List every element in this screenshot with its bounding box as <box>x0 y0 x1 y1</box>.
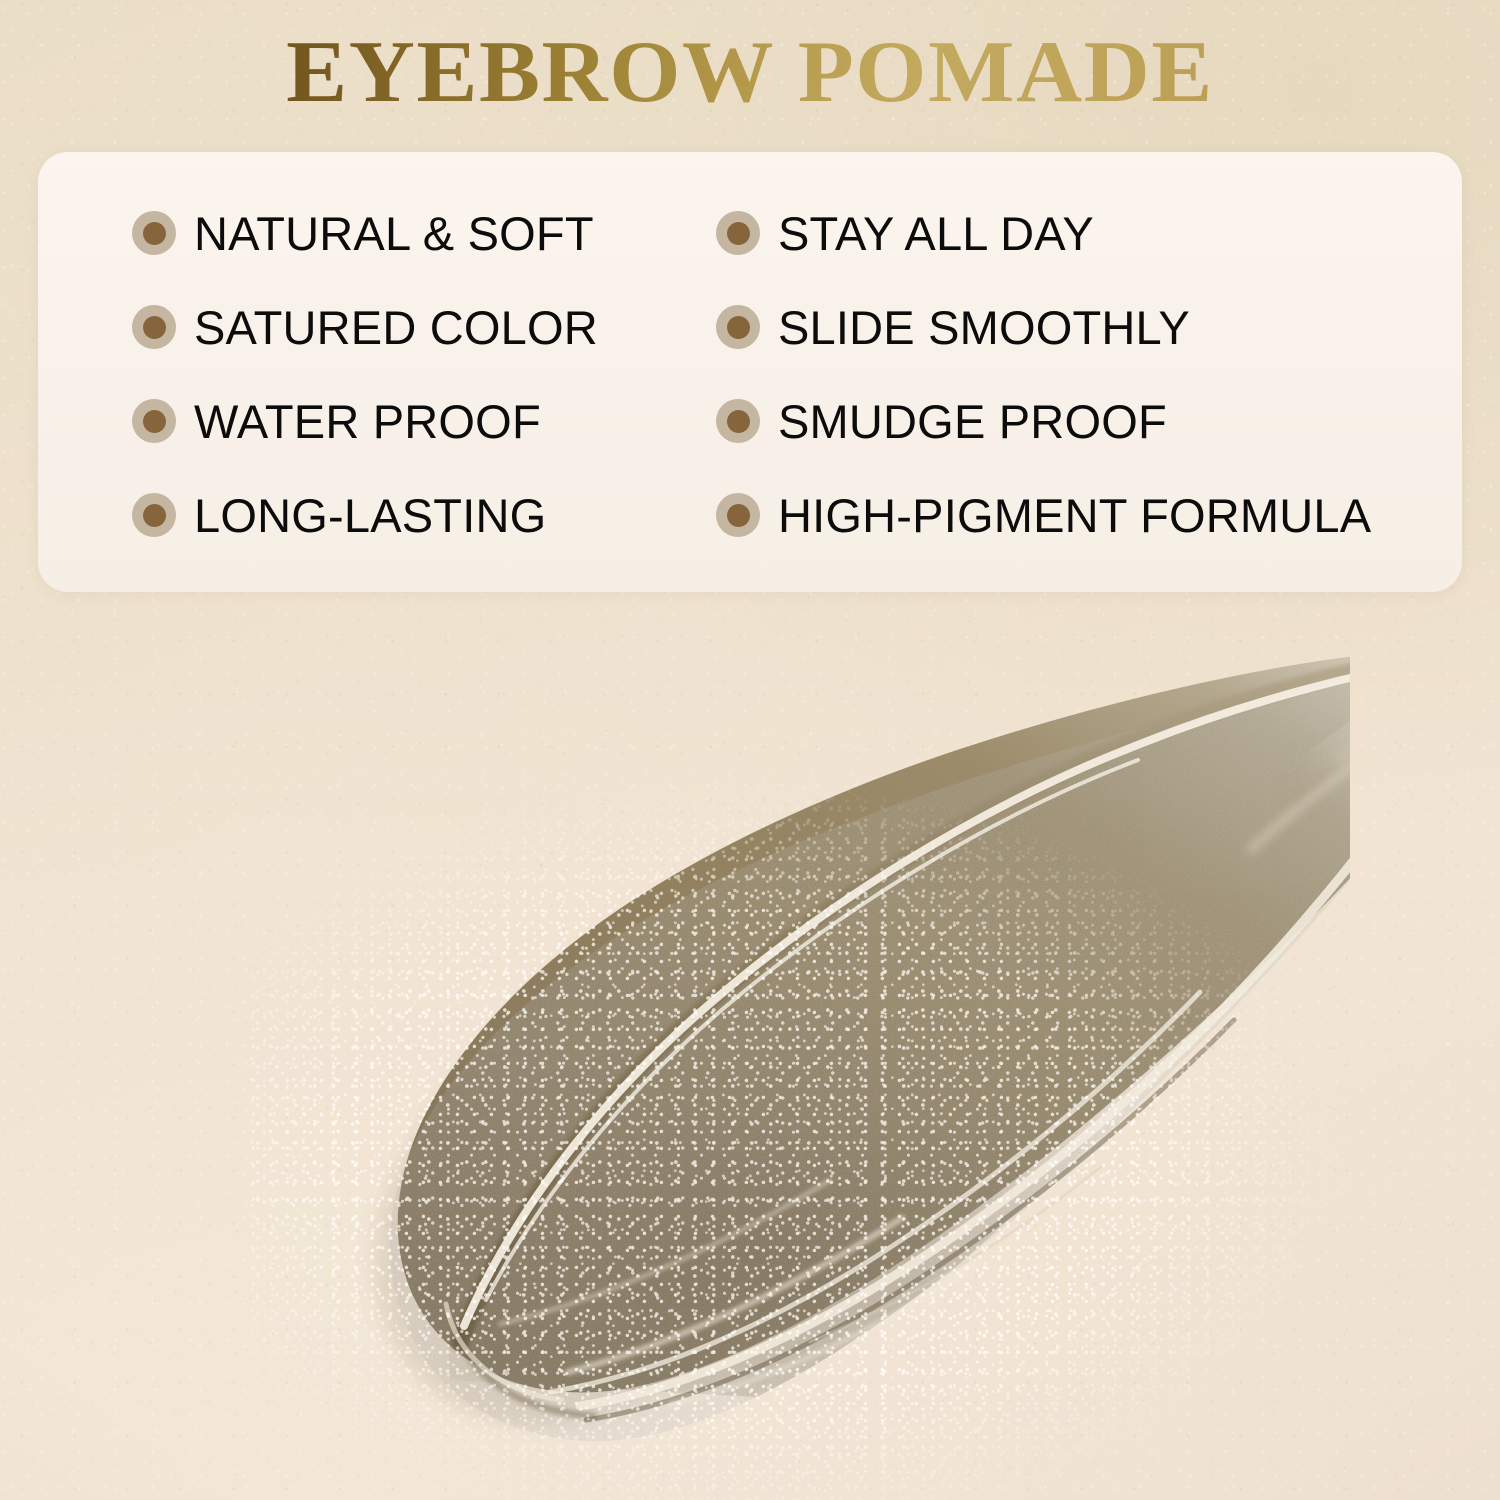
feature-label: LONG-LASTING <box>194 492 546 539</box>
bullet-dot-icon <box>716 399 760 443</box>
product-feature-graphic: EYEBROW POMADE NATURAL & SOFT STAY ALL D… <box>0 0 1500 1500</box>
bullet-dot-icon <box>716 493 760 537</box>
feature-label: WATER PROOF <box>194 398 541 445</box>
feature-item-satured-color: SATURED COLOR <box>38 280 635 374</box>
bullet-dot-icon <box>716 305 760 349</box>
feature-item-stay-all-day: STAY ALL DAY <box>635 186 1462 280</box>
page-title: EYEBROW POMADE <box>0 24 1500 123</box>
feature-item-long-lasting: LONG-LASTING <box>38 468 635 562</box>
feature-label: STAY ALL DAY <box>778 210 1094 257</box>
bullet-dot-icon <box>132 211 176 255</box>
feature-item-smudge-proof: SMUDGE PROOF <box>635 374 1462 468</box>
bullet-dot-icon <box>716 211 760 255</box>
bullet-dot-icon <box>132 399 176 443</box>
bullet-dot-icon <box>132 305 176 349</box>
feature-label: SLIDE SMOOTHLY <box>778 304 1190 351</box>
bullet-dot-icon <box>132 493 176 537</box>
feature-item-water-proof: WATER PROOF <box>38 374 635 468</box>
feature-label: NATURAL & SOFT <box>194 210 594 257</box>
feature-label: HIGH-PIGMENT FORMULA <box>778 492 1371 539</box>
feature-item-slide-smoothly: SLIDE SMOOTHLY <box>635 280 1462 374</box>
feature-item-high-pigment-formula: HIGH-PIGMENT FORMULA <box>635 468 1462 562</box>
feature-item-natural-soft: NATURAL & SOFT <box>38 186 635 280</box>
feature-card: NATURAL & SOFT STAY ALL DAY SATURED COLO… <box>38 152 1462 592</box>
feature-list: NATURAL & SOFT STAY ALL DAY SATURED COLO… <box>38 152 1462 592</box>
product-swatch <box>250 600 1350 1500</box>
feature-label: SATURED COLOR <box>194 304 598 351</box>
feature-label: SMUDGE PROOF <box>778 398 1167 445</box>
